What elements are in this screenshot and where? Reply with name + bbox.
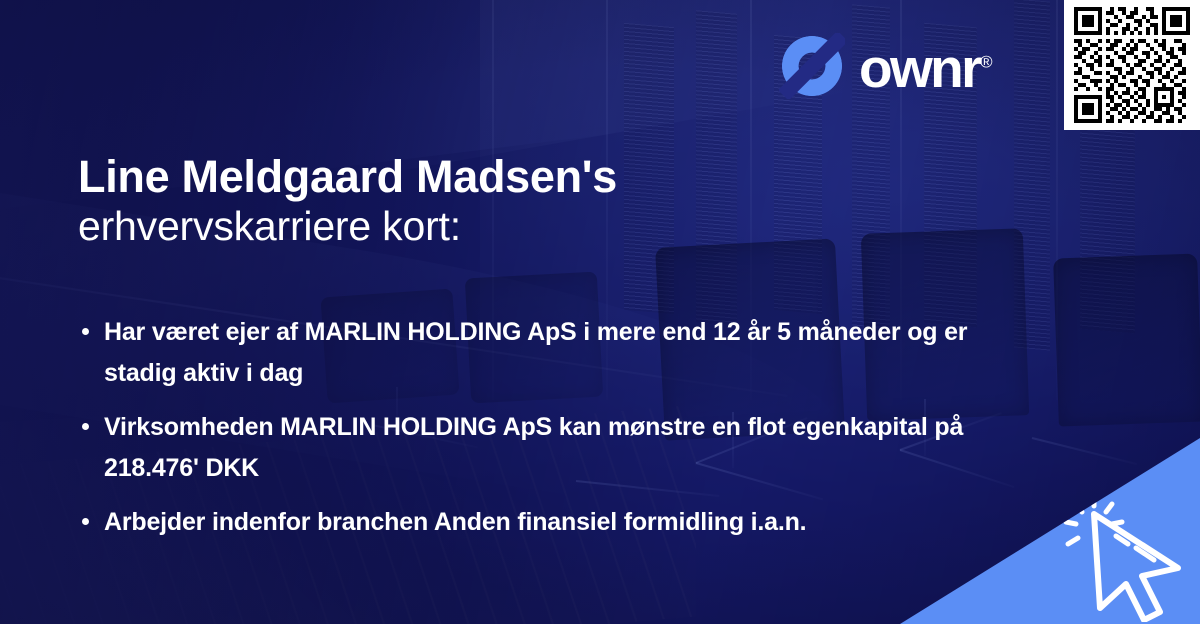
list-item-text: Har været ejer af MARLIN HOLDING ApS i m… [104, 318, 967, 387]
list-item: Har været ejer af MARLIN HOLDING ApS i m… [78, 312, 1008, 393]
bullet-dot-icon [82, 328, 89, 335]
list-item: Virksomheden MARLIN HOLDING ApS kan møns… [78, 407, 1008, 488]
career-facts-list: Har været ejer af MARLIN HOLDING ApS i m… [78, 312, 1008, 543]
list-item-text: Arbejder indenfor branchen Anden finansi… [104, 508, 806, 536]
ownr-wordmark: ownr® [859, 41, 993, 96]
qr-code-panel[interactable] [1064, 0, 1200, 130]
ownr-wordmark-text: ownr [859, 37, 980, 99]
title-line-subtitle: erhvervskarriere kort: [78, 202, 958, 250]
registered-trademark-icon: ® [980, 52, 993, 71]
bullet-dot-icon [82, 423, 89, 430]
ownr-circle-slash-icon [779, 33, 845, 99]
bullet-dot-icon [82, 518, 89, 525]
page-title: Line Meldgaard Madsen's erhvervskarriere… [78, 152, 958, 251]
qr-code[interactable] [1074, 7, 1190, 123]
list-item-text: Virksomheden MARLIN HOLDING ApS kan møns… [104, 413, 963, 482]
title-line-name: Line Meldgaard Madsen's [78, 152, 958, 202]
business-card-graphic: ownr® Line Meldgaard Madsen's erhvervska… [0, 0, 1200, 624]
ownr-logo: ownr® [779, 33, 993, 99]
list-item: Arbejder indenfor branchen Anden finansi… [78, 502, 1008, 543]
